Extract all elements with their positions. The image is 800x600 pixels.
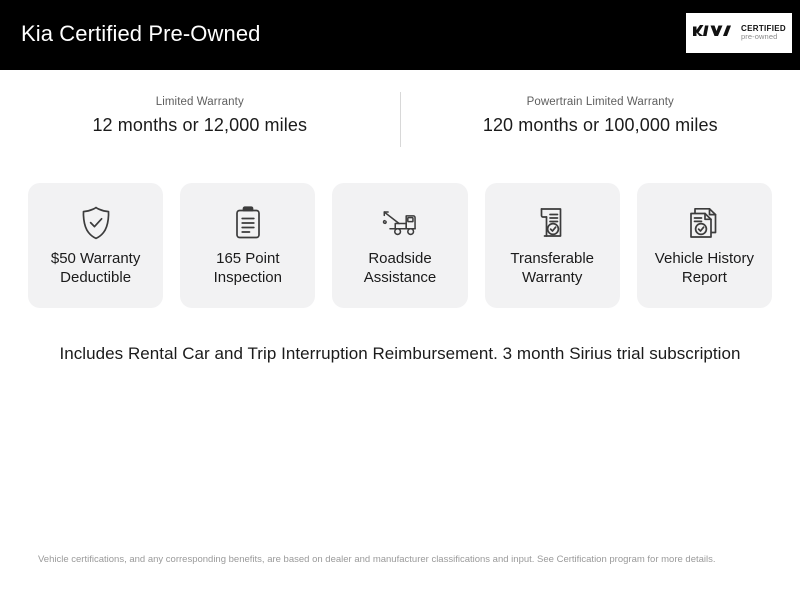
page-title: Kia Certified Pre-Owned [21, 21, 261, 47]
benefit-label-line1: $50 Warranty [51, 250, 140, 267]
warranty-value: 12 months or 12,000 miles [0, 115, 400, 136]
benefit-cards-row: $50 Warranty Deductible 165 Point Ins [28, 183, 772, 308]
includes-benefits-text: Includes Rental Car and Trip Interruptio… [0, 344, 800, 364]
warranty-label: Limited Warranty [0, 96, 400, 108]
warranty-column-powertrain: Powertrain Limited Warranty 120 months o… [401, 88, 800, 136]
tow-truck-icon [380, 201, 420, 245]
benefit-label-line1: 165 Point [216, 250, 279, 267]
clipboard-lines-icon [232, 201, 264, 245]
warranty-column-limited: Limited Warranty 12 months or 12,000 mil… [0, 88, 400, 136]
kia-logo-mark [692, 23, 734, 43]
benefit-label-line2: Inspection [214, 269, 282, 286]
benefit-card-label: Roadside Assistance [360, 249, 441, 287]
benefit-label-line1: Vehicle History [655, 250, 754, 267]
warranty-value: 120 months or 100,000 miles [401, 115, 800, 136]
benefit-label-line1: Transferable [510, 250, 594, 267]
warranty-label: Powertrain Limited Warranty [401, 96, 800, 108]
benefit-card-warranty-deductible[interactable]: $50 Warranty Deductible [28, 183, 163, 308]
benefit-card-roadside-assistance[interactable]: Roadside Assistance [332, 183, 467, 308]
document-check-icon [535, 201, 569, 245]
badge-text-block: CERTIFIED pre-owned [741, 25, 786, 41]
benefit-card-point-inspection[interactable]: 165 Point Inspection [180, 183, 315, 308]
benefit-card-label: 165 Point Inspection [210, 249, 286, 287]
benefit-label-line2: Report [682, 269, 727, 286]
badge-preowned-label: pre-owned [741, 33, 786, 41]
kia-certified-preowned-badge: CERTIFIED pre-owned [686, 13, 792, 53]
benefit-label-line2: Warranty [522, 269, 582, 286]
benefit-label-line2: Deductible [60, 269, 131, 286]
shield-check-icon [79, 201, 113, 245]
benefit-card-label: Vehicle History Report [651, 249, 758, 287]
benefit-label-line2: Assistance [364, 269, 437, 286]
kia-cpo-benefits-page: Kia Certified Pre-Owned [0, 0, 800, 600]
page-header: Kia Certified Pre-Owned [0, 0, 800, 70]
documents-stack-check-icon [686, 201, 722, 245]
benefit-card-vehicle-history-report[interactable]: Vehicle History Report [637, 183, 772, 308]
disclaimer-text: Vehicle certifications, and any correspo… [38, 553, 768, 568]
benefit-card-label: $50 Warranty Deductible [47, 249, 144, 287]
warranty-summary-row: Limited Warranty 12 months or 12,000 mil… [0, 88, 800, 150]
benefit-card-label: Transferable Warranty [506, 249, 598, 287]
benefit-card-transferable-warranty[interactable]: Transferable Warranty [485, 183, 620, 308]
benefit-label-line1: Roadside [368, 250, 431, 267]
